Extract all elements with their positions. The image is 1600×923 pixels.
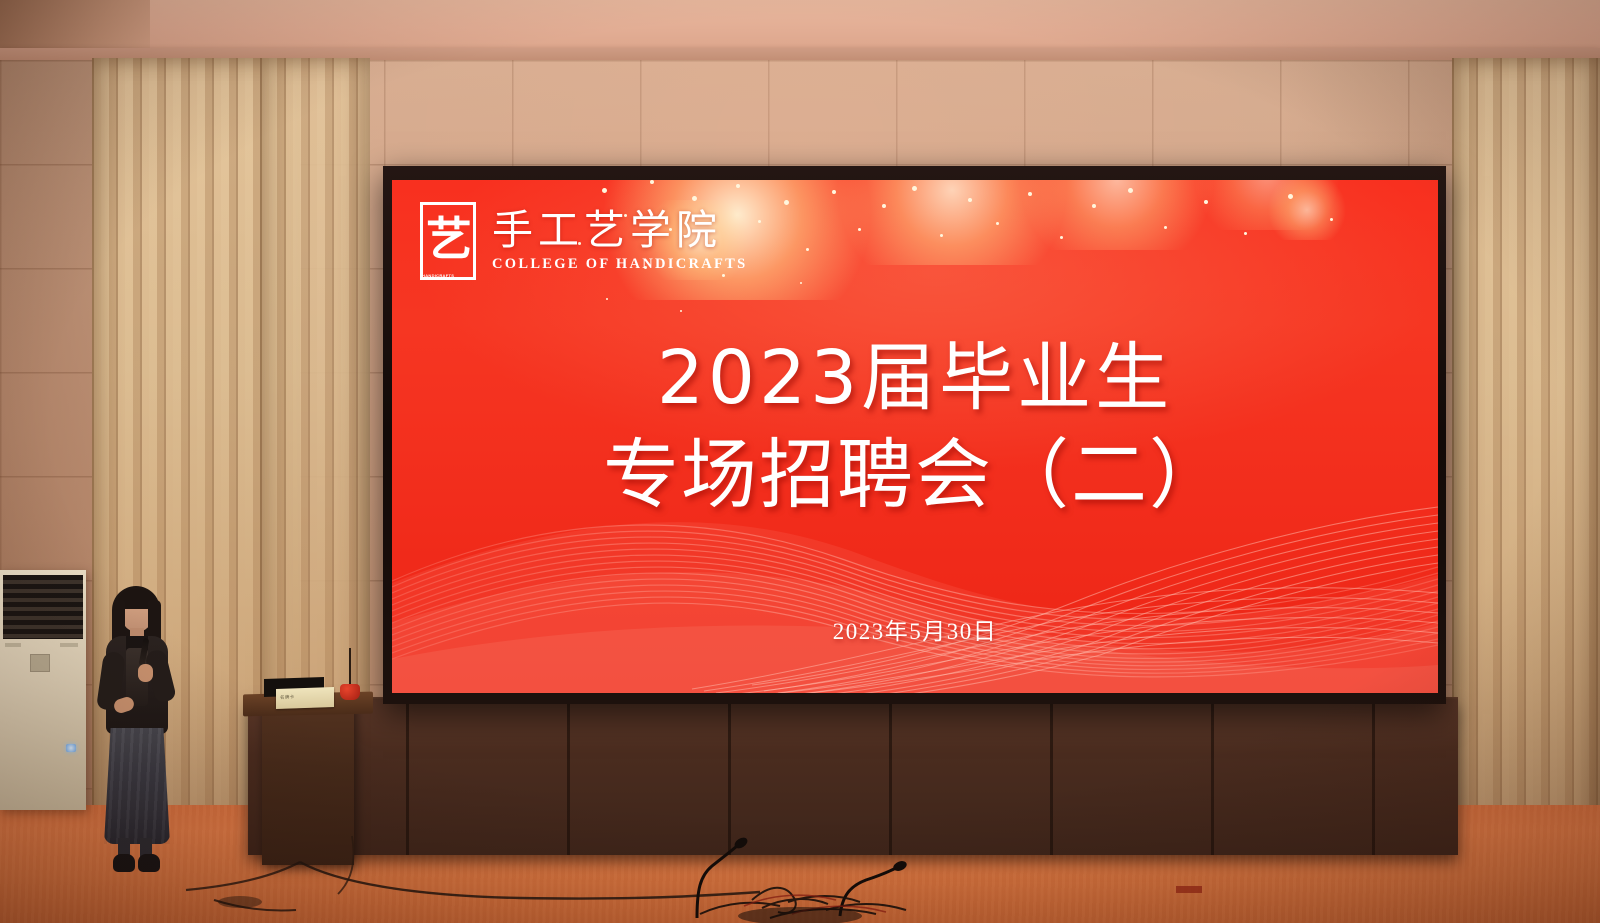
floor-cables-and-mics: [0, 0, 1600, 923]
auditorium-scene: 艺 HANDICRAFTS 手工艺学院 COLLEGE OF HANDICRAF…: [0, 0, 1600, 923]
